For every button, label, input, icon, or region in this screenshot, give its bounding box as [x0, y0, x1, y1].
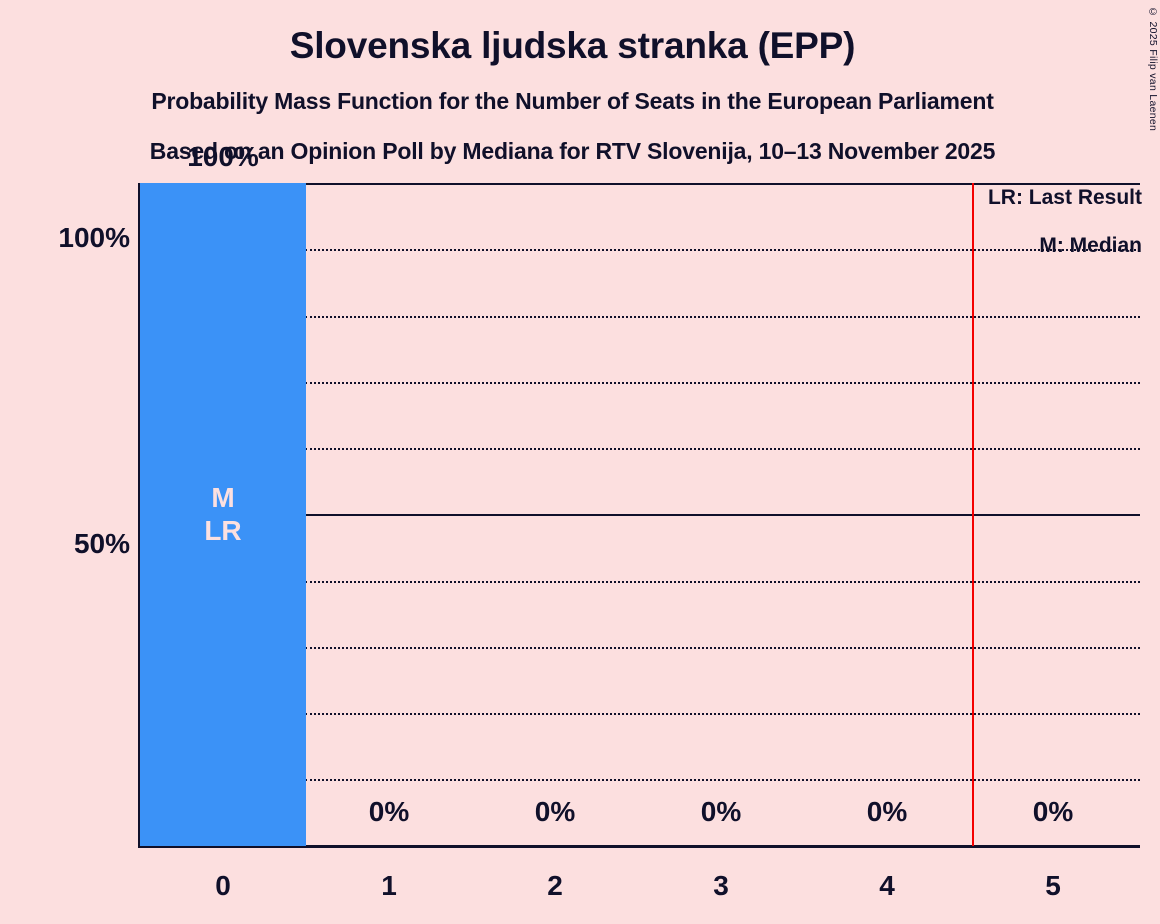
gridline-50: [305, 514, 1140, 516]
gridline-60: [305, 448, 1140, 450]
x-axis-tick-label: 5: [970, 870, 1136, 902]
bar-value-label: 0%: [804, 796, 970, 828]
chart-subtitle-primary: Probability Mass Function for the Number…: [0, 88, 1145, 115]
x-axis-tick-label: 1: [306, 870, 472, 902]
bar-marker-median: M: [140, 481, 306, 514]
bar-value-label: 0%: [306, 796, 472, 828]
bar-value-label: 0%: [638, 796, 804, 828]
chart-container: Slovenska ljudska stranka (EPP) Probabil…: [0, 0, 1160, 924]
gridline-100: [305, 183, 1140, 185]
gridline-80: [305, 316, 1140, 318]
y-axis-tick-label: 50%: [20, 528, 130, 560]
gridline-90: [305, 249, 1140, 251]
bar-value-label: 100%: [140, 141, 306, 173]
bar-value-label: 0%: [970, 796, 1136, 828]
bar-marker-last-result: LR: [140, 514, 306, 547]
plot-area: M LR 100% 0% 0% 0% 0% 0% 0 1 2 3 4: [140, 183, 1140, 846]
x-axis-tick-label: 4: [804, 870, 970, 902]
gridline-10: [305, 779, 1140, 781]
gridline-20: [305, 713, 1140, 715]
x-axis-tick-label: 2: [472, 870, 638, 902]
last-result-indicator-line: [972, 183, 974, 846]
gridline-30: [305, 647, 1140, 649]
y-axis-tick-label: 100%: [20, 222, 130, 254]
copyright-notice: © 2025 Filip van Laenen: [1147, 6, 1159, 131]
bar-value-label: 0%: [472, 796, 638, 828]
bar-seat-0[interactable]: M LR: [140, 183, 306, 846]
x-axis-tick-label: 3: [638, 870, 804, 902]
x-axis-tick-label: 0: [140, 870, 306, 902]
page-title: Slovenska ljudska stranka (EPP): [0, 25, 1145, 67]
gridline-70: [305, 382, 1140, 384]
gridline-40: [305, 581, 1140, 583]
